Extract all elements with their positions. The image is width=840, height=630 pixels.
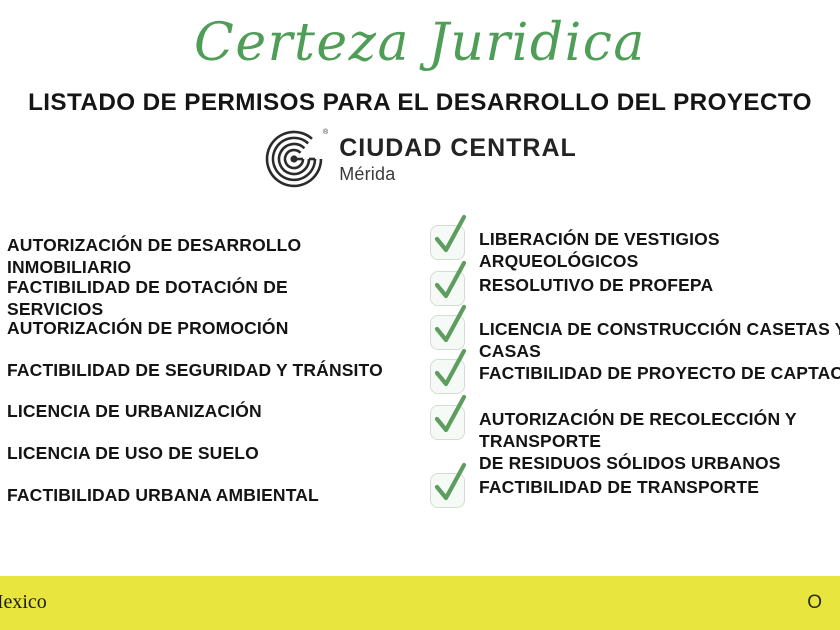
- permit-row[interactable]: FACTIBILIDAD DE SEGURIDAD Y TRÁNSITO: [0, 353, 383, 391]
- permits-columns: AUTORIZACIÓN DE DESARROLLO INMOBILIARIOF…: [0, 206, 840, 526]
- checkbox-checked-icon[interactable]: [430, 271, 465, 306]
- permit-row[interactable]: LICENCIA DE USO DE SUELO: [0, 436, 259, 474]
- permit-label: AUTORIZACIÓN DE RECOLECCIÓN Y TRANSPORTE…: [479, 402, 840, 474]
- permit-row[interactable]: AUTORIZACIÓN DE PROMOCIÓN: [0, 311, 289, 349]
- permit-label: FACTIBILIDAD DE TRANSPORTE: [479, 470, 759, 498]
- permit-row[interactable]: FACTIBILIDAD URBANA AMBIENTAL: [0, 478, 319, 516]
- permit-label: LICENCIA DE CONSTRUCCIÓN CASETAS Y CASAS: [479, 312, 840, 362]
- permit-row[interactable]: LICENCIA DE URBANIZACIÓN: [0, 394, 262, 432]
- permit-row[interactable]: FACTIBILIDAD DE PROYECTO DE CAPTACIÓN: [430, 356, 840, 394]
- page-title-script: Certeza Juridica: [0, 8, 840, 78]
- page-subtitle: LISTADO DE PERMISOS PARA EL DESARROLLO D…: [4, 88, 836, 118]
- permit-row[interactable]: RESOLUTIVO DE PROFEPA: [430, 268, 713, 306]
- concentric-spiral-logo-icon: ®: [263, 128, 325, 190]
- permit-row[interactable]: LICENCIA DE CONSTRUCCIÓN CASETAS Y CASAS: [430, 312, 840, 362]
- permit-label: RESOLUTIVO DE PROFEPA: [479, 268, 713, 296]
- permit-label: LICENCIA DE USO DE SUELO: [7, 436, 259, 464]
- registered-trademark-icon: ®: [323, 129, 328, 136]
- permit-row[interactable]: LIBERACIÓN DE VESTIGIOS ARQUEOLÓGICOS: [430, 222, 840, 272]
- brand-name: CIUDAD CENTRAL: [339, 134, 577, 162]
- permit-label: FACTIBILIDAD URBANA AMBIENTAL: [7, 478, 319, 506]
- checkbox-checked-icon[interactable]: [430, 359, 465, 394]
- brand-lockup: ® CIUDAD CENTRAL Mérida: [0, 128, 840, 190]
- footer-circle-glyph[interactable]: O: [807, 593, 822, 613]
- permit-label: LICENCIA DE URBANIZACIÓN: [7, 394, 262, 422]
- slide-canvas: Certeza Juridica LISTADO DE PERMISOS PAR…: [0, 0, 840, 630]
- permit-label: FACTIBILIDAD DE SEGURIDAD Y TRÁNSITO: [7, 353, 383, 381]
- permit-label: FACTIBILIDAD DE PROYECTO DE CAPTACIÓN: [479, 356, 840, 384]
- checkbox-checked-icon[interactable]: [430, 473, 465, 508]
- checkbox-checked-icon[interactable]: [430, 225, 465, 260]
- brand-text-block: CIUDAD CENTRAL Mérida: [339, 134, 577, 185]
- brand-city: Mérida: [339, 163, 577, 185]
- footer-source-label: use Mexico: [0, 590, 47, 614]
- permit-row[interactable]: FACTIBILIDAD DE TRANSPORTE: [430, 470, 759, 508]
- permit-row[interactable]: AUTORIZACIÓN DE RECOLECCIÓN Y TRANSPORTE…: [430, 402, 840, 474]
- checkbox-checked-icon[interactable]: [430, 315, 465, 350]
- footer-bar: use Mexico O: [0, 576, 840, 630]
- checkbox-checked-icon[interactable]: [430, 405, 465, 440]
- permit-label: LIBERACIÓN DE VESTIGIOS ARQUEOLÓGICOS: [479, 222, 840, 272]
- permit-label: AUTORIZACIÓN DE PROMOCIÓN: [7, 311, 289, 339]
